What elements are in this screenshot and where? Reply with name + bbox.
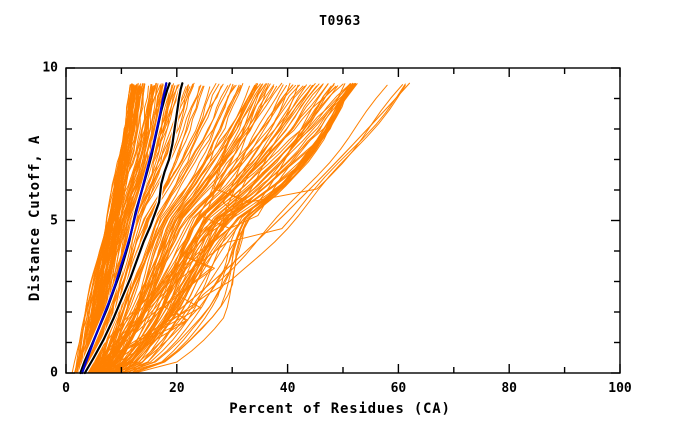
x-tick-label: 0 bbox=[62, 381, 70, 396]
x-tick-label: 20 bbox=[169, 381, 185, 396]
plot-canvas bbox=[0, 0, 680, 440]
y-tick-label: 10 bbox=[32, 61, 58, 76]
x-tick-label: 40 bbox=[280, 381, 296, 396]
y-tick-label: 5 bbox=[32, 213, 58, 228]
x-tick-label: 100 bbox=[608, 381, 631, 396]
x-tick-label: 60 bbox=[391, 381, 407, 396]
x-tick-label: 80 bbox=[501, 381, 517, 396]
chart-figure: T0963 Percent of Residues (CA) Distance … bbox=[0, 0, 680, 440]
prediction-curves-layer bbox=[72, 83, 409, 373]
y-tick-label: 0 bbox=[32, 366, 58, 381]
